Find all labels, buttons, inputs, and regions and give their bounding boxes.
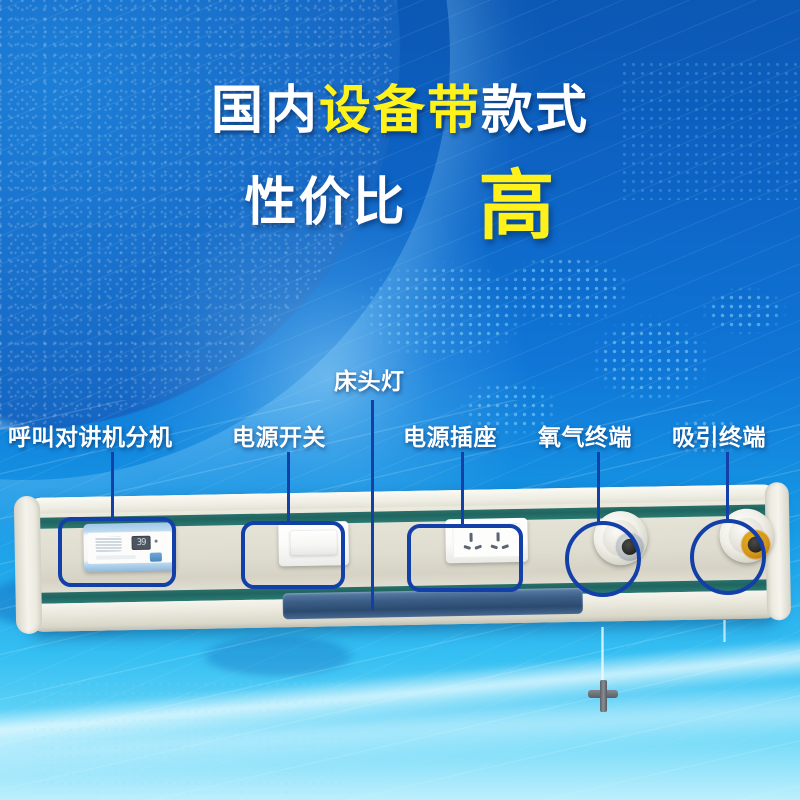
callout-labels: 呼叫对讲机分机 电源开关 床头灯 电源插座 氧气终端 吸引终端 (0, 0, 800, 800)
label-bedside-lamp: 床头灯 (334, 362, 405, 396)
label-power-socket: 电源插座 (403, 418, 497, 452)
label-suction-terminal: 吸引终端 (672, 418, 766, 452)
label-oxygen-terminal: 氧气终端 (538, 418, 632, 452)
label-power-switch: 电源开关 (232, 418, 326, 452)
poster-canvas: 国内设备带款式 性价比 高 39 (0, 0, 800, 800)
label-call-intercom-extension: 呼叫对讲机分机 (8, 418, 173, 452)
